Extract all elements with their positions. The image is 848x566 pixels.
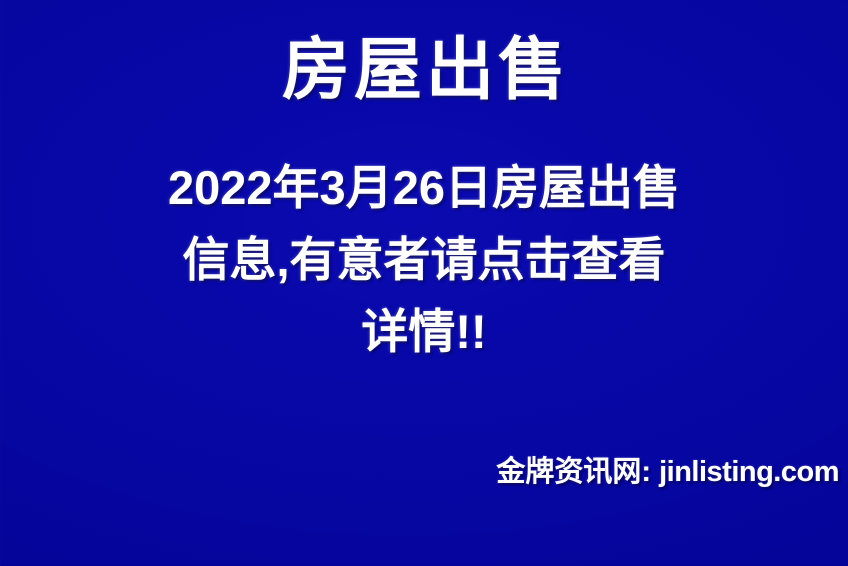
announcement-line-3: 详情!! — [0, 296, 848, 368]
listing-poster: 房屋出售 2022年3月26日房屋出售 信息,有意者请点击查看 详情!! 金牌资… — [0, 0, 848, 566]
watermark-publisher-label: 金牌资讯网: — [496, 456, 651, 488]
watermark-site-url: jinlisting.com — [659, 456, 839, 488]
page-title: 房屋出售 — [0, 31, 848, 109]
watermark: 金牌资讯网: jinlisting.com — [496, 455, 839, 489]
announcement-line-2: 信息,有意者请点击查看 — [0, 224, 848, 296]
announcement-line-1: 2022年3月26日房屋出售 — [0, 152, 848, 224]
announcement-body: 2022年3月26日房屋出售 信息,有意者请点击查看 详情!! — [0, 152, 848, 368]
